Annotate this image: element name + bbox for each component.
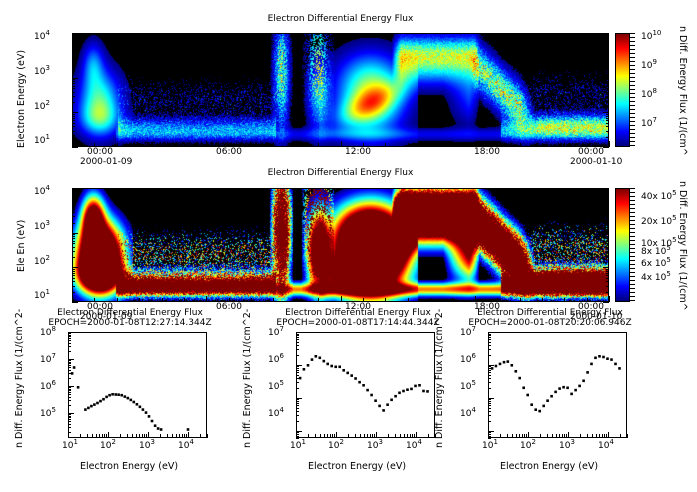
spectrum-3-xtick-4: 104 bbox=[598, 441, 614, 451]
axis-tick bbox=[296, 366, 299, 367]
data-point bbox=[574, 389, 577, 392]
data-point bbox=[326, 363, 329, 366]
colorbar-tick bbox=[629, 232, 635, 233]
axis-tick bbox=[592, 434, 593, 438]
axis-tick bbox=[296, 415, 299, 416]
spectrum-1-xtick-3: 103 bbox=[139, 441, 155, 451]
axis-tick bbox=[324, 434, 325, 438]
axis-tick bbox=[606, 57, 609, 58]
axis-tick bbox=[72, 114, 75, 115]
spectrum-3-ytick-5: 105 bbox=[460, 382, 476, 392]
axis-tick bbox=[186, 434, 187, 438]
spectrum-2-xtick-4: 104 bbox=[406, 441, 422, 451]
colorbar-tick bbox=[629, 41, 635, 42]
axis-tick bbox=[229, 143, 230, 147]
data-point bbox=[534, 408, 537, 411]
axis-tick bbox=[68, 343, 71, 344]
axis-tick bbox=[72, 275, 75, 276]
axis-tick bbox=[68, 332, 74, 333]
axis-tick bbox=[72, 54, 75, 55]
mid-spectrogram-ylabel: Ele En (eV) bbox=[16, 220, 27, 272]
spectrum-1-xtick-4: 104 bbox=[178, 441, 194, 451]
axis-tick bbox=[488, 432, 489, 438]
axis-tick bbox=[606, 278, 609, 279]
axis-tick bbox=[144, 434, 145, 438]
axis-tick bbox=[72, 81, 75, 82]
axis-tick bbox=[606, 271, 609, 272]
data-point bbox=[303, 368, 306, 371]
colorbar-tick bbox=[629, 137, 635, 138]
axis-tick bbox=[606, 114, 609, 115]
colorbar-tick bbox=[629, 73, 635, 74]
axis-tick bbox=[488, 398, 494, 399]
data-point bbox=[503, 361, 506, 364]
top-spectrogram-title: Electron Differential Energy Flux bbox=[73, 14, 608, 24]
data-point bbox=[315, 355, 318, 358]
top-ytick-4: 104 bbox=[34, 32, 50, 42]
data-point bbox=[148, 415, 151, 418]
data-point bbox=[307, 364, 310, 367]
data-point bbox=[374, 399, 377, 402]
data-point bbox=[319, 357, 322, 360]
spectrum-1-title: Electron Differential Energy Flux bbox=[35, 308, 225, 318]
axis-tick bbox=[332, 434, 333, 438]
axis-tick bbox=[606, 202, 609, 203]
data-point bbox=[586, 371, 589, 374]
axis-tick bbox=[488, 438, 491, 439]
axis-tick bbox=[603, 112, 609, 113]
axis-tick bbox=[606, 434, 607, 438]
axis-tick bbox=[376, 432, 377, 438]
colorbar-tick bbox=[629, 264, 635, 265]
axis-tick bbox=[606, 281, 609, 282]
axis-tick bbox=[72, 61, 75, 62]
data-point bbox=[546, 399, 549, 402]
colorbar-tick bbox=[629, 61, 635, 62]
axis-tick bbox=[327, 434, 328, 438]
spectrum-1-ytick-6: 106 bbox=[40, 382, 56, 392]
data-point bbox=[422, 390, 425, 393]
colorbar-tick bbox=[629, 113, 635, 114]
top-cbar-tick-10: 1010 bbox=[641, 32, 661, 42]
axis-tick bbox=[606, 243, 609, 244]
axis-tick bbox=[117, 298, 118, 302]
axis-tick bbox=[296, 349, 299, 350]
axis-tick bbox=[296, 368, 299, 369]
axis-tick bbox=[603, 302, 609, 303]
axis-tick bbox=[72, 292, 75, 293]
spectrum-2-ytick-5: 105 bbox=[268, 382, 284, 392]
top-xdate-right: 2000-01-10 bbox=[570, 157, 622, 167]
colorbar-tick bbox=[629, 276, 635, 277]
axis-tick bbox=[68, 367, 71, 368]
data-point bbox=[370, 394, 373, 397]
axis-tick bbox=[606, 88, 609, 89]
axis-tick bbox=[522, 434, 523, 438]
colorbar-tick bbox=[629, 256, 635, 257]
data-point bbox=[117, 393, 120, 396]
axis-tick bbox=[68, 373, 71, 374]
axis-tick bbox=[96, 434, 97, 438]
axis-tick bbox=[564, 143, 565, 147]
data-point bbox=[386, 403, 389, 406]
data-point bbox=[566, 387, 569, 390]
axis-tick bbox=[606, 45, 609, 46]
data-point bbox=[130, 399, 133, 402]
axis-tick bbox=[475, 296, 476, 302]
axis-tick bbox=[363, 298, 364, 302]
axis-tick bbox=[488, 342, 491, 343]
colorbar-tick bbox=[629, 121, 635, 122]
axis-tick bbox=[68, 413, 74, 414]
axis-tick bbox=[139, 298, 140, 302]
spectrum-2-ytick-6: 106 bbox=[268, 355, 284, 365]
axis-tick bbox=[102, 434, 103, 438]
data-point bbox=[187, 428, 190, 431]
axis-tick bbox=[296, 334, 299, 335]
axis-tick bbox=[99, 434, 100, 438]
axis-tick bbox=[488, 339, 491, 340]
data-point bbox=[108, 394, 111, 397]
axis-tick bbox=[385, 298, 386, 302]
data-point bbox=[550, 395, 553, 398]
mid-spectrogram-title: Electron Differential Energy Flux bbox=[73, 168, 608, 178]
axis-tick bbox=[72, 43, 78, 44]
data-point bbox=[570, 393, 573, 396]
data-point bbox=[414, 385, 417, 388]
colorbar-tick bbox=[629, 244, 635, 245]
axis-tick bbox=[296, 332, 302, 333]
axis-tick bbox=[488, 421, 491, 422]
axis-tick bbox=[72, 137, 75, 138]
axis-tick bbox=[606, 54, 609, 55]
axis-tick bbox=[606, 49, 609, 50]
spectrum-3-xtick-3: 103 bbox=[559, 441, 575, 451]
top-colorbar-label: n Diff. Energy Flux (1/(cm^ bbox=[677, 26, 688, 156]
axis-tick bbox=[408, 143, 409, 147]
axis-tick bbox=[430, 298, 431, 302]
axis-tick bbox=[72, 49, 75, 50]
colorbar-tick bbox=[629, 85, 635, 86]
data-point bbox=[606, 357, 609, 360]
axis-tick bbox=[488, 334, 491, 335]
axis-tick bbox=[72, 96, 75, 97]
axis-tick bbox=[72, 126, 75, 127]
axis-tick bbox=[72, 243, 75, 244]
axis-tick bbox=[108, 432, 109, 438]
data-point bbox=[542, 405, 545, 408]
axis-tick bbox=[606, 47, 609, 48]
axis-tick bbox=[606, 92, 609, 93]
mid-cbar-tick-40: 40x 105 bbox=[641, 192, 677, 202]
axis-tick bbox=[206, 141, 207, 147]
axis-tick bbox=[72, 206, 75, 207]
axis-tick bbox=[92, 434, 93, 438]
colorbar-tick bbox=[629, 53, 635, 54]
axis-tick bbox=[606, 247, 609, 248]
data-point bbox=[73, 366, 76, 369]
axis-tick bbox=[606, 61, 609, 62]
axis-tick bbox=[556, 434, 557, 438]
axis-tick bbox=[336, 432, 337, 438]
data-point bbox=[71, 372, 74, 375]
axis-tick bbox=[68, 421, 71, 422]
spectrum-2-ytick-4: 104 bbox=[268, 409, 284, 419]
colorbar-tick bbox=[629, 49, 635, 50]
axis-tick bbox=[488, 411, 491, 412]
colorbar-tick bbox=[629, 212, 635, 213]
axis-tick bbox=[606, 269, 609, 270]
axis-tick bbox=[72, 88, 75, 89]
spectrum-3-ylabel: n Diff. Energy Flux (1/(cm^2- bbox=[434, 309, 445, 448]
axis-tick bbox=[606, 257, 609, 258]
axis-tick bbox=[606, 96, 609, 97]
top-xtick-3: 18:00 bbox=[474, 147, 500, 157]
axis-tick bbox=[564, 434, 565, 438]
axis-tick bbox=[606, 204, 609, 205]
axis-tick bbox=[606, 131, 609, 132]
axis-tick bbox=[488, 382, 491, 383]
axis-tick bbox=[296, 372, 299, 373]
colorbar-tick bbox=[629, 236, 635, 237]
axis-tick bbox=[296, 345, 299, 346]
mid-cbar-tick-20: 20x 105 bbox=[641, 217, 677, 227]
top-ytick-2: 102 bbox=[34, 102, 50, 112]
axis-tick bbox=[72, 267, 78, 268]
axis-tick bbox=[273, 298, 274, 302]
axis-tick bbox=[488, 365, 494, 366]
axis-tick bbox=[516, 434, 517, 438]
data-point bbox=[154, 424, 157, 427]
axis-tick bbox=[500, 434, 501, 438]
axis-tick bbox=[68, 386, 74, 387]
axis-tick bbox=[68, 346, 71, 347]
axis-tick bbox=[296, 408, 299, 409]
axis-tick bbox=[167, 434, 168, 438]
axis-tick bbox=[72, 147, 78, 148]
axis-tick bbox=[606, 216, 609, 217]
axis-tick bbox=[562, 434, 563, 438]
data-point bbox=[582, 380, 585, 383]
axis-tick bbox=[72, 83, 75, 84]
data-point bbox=[406, 388, 409, 391]
axis-tick bbox=[363, 143, 364, 147]
axis-tick bbox=[142, 434, 143, 438]
axis-tick bbox=[341, 296, 342, 302]
axis-tick bbox=[72, 92, 75, 93]
data-point bbox=[594, 357, 597, 360]
data-point bbox=[151, 420, 154, 423]
axis-tick bbox=[229, 298, 230, 302]
colorbar-tick bbox=[629, 292, 635, 293]
axis-tick bbox=[132, 434, 133, 438]
axis-tick bbox=[488, 375, 491, 376]
axis-tick bbox=[72, 212, 75, 213]
axis-tick bbox=[348, 434, 349, 438]
axis-tick bbox=[68, 400, 71, 401]
axis-tick bbox=[68, 351, 71, 352]
data-point bbox=[530, 403, 533, 406]
colorbar-tick bbox=[629, 224, 635, 225]
top-xtick-2: 12:00 bbox=[345, 147, 371, 157]
data-point bbox=[338, 366, 341, 369]
axis-tick bbox=[296, 355, 299, 356]
axis-tick bbox=[606, 206, 609, 207]
data-point bbox=[99, 400, 102, 403]
spectrum-2-title: Electron Differential Energy Flux bbox=[263, 308, 453, 318]
colorbar-tick bbox=[629, 125, 635, 126]
data-point bbox=[311, 358, 314, 361]
axis-tick bbox=[330, 434, 331, 438]
top-cbar-tick-9: 109 bbox=[641, 61, 657, 71]
data-point bbox=[554, 391, 557, 394]
axis-tick bbox=[68, 419, 71, 420]
axis-tick bbox=[606, 292, 609, 293]
axis-tick bbox=[162, 143, 163, 147]
colorbar-tick bbox=[629, 77, 635, 78]
axis-tick bbox=[320, 434, 321, 438]
spectrum-1-ytick-7: 107 bbox=[40, 355, 56, 365]
mid-cbar-tick-4: 4x 105 bbox=[641, 273, 671, 283]
colorbar-tick bbox=[629, 101, 635, 102]
axis-tick bbox=[72, 257, 75, 258]
axis-tick bbox=[72, 204, 75, 205]
axis-tick bbox=[488, 366, 491, 367]
axis-tick bbox=[412, 434, 413, 438]
axis-tick bbox=[374, 434, 375, 438]
data-point bbox=[398, 392, 401, 395]
top-cbar-tick-7: 107 bbox=[641, 119, 657, 129]
axis-tick bbox=[488, 337, 491, 338]
axis-tick bbox=[488, 401, 491, 402]
colorbar-tick bbox=[629, 240, 635, 241]
mid-ytick-3: 103 bbox=[34, 222, 50, 232]
spectrum-1-ylabel: n Diff. Energy Flux (1/(cm^2- bbox=[14, 309, 25, 448]
axis-tick bbox=[524, 434, 525, 438]
data-point bbox=[558, 387, 561, 390]
axis-tick bbox=[72, 200, 75, 201]
colorbar-tick bbox=[629, 248, 635, 249]
axis-tick bbox=[512, 434, 513, 438]
axis-tick bbox=[606, 86, 609, 87]
mid-spectrogram-image bbox=[72, 188, 609, 302]
spectrum-1-xtick-2: 102 bbox=[100, 441, 116, 451]
axis-tick bbox=[488, 345, 491, 346]
axis-tick bbox=[68, 378, 71, 379]
axis-tick bbox=[72, 47, 75, 48]
axis-tick bbox=[68, 336, 71, 337]
axis-tick bbox=[106, 434, 107, 438]
axis-tick bbox=[296, 298, 297, 302]
axis-tick bbox=[606, 273, 609, 274]
axis-tick bbox=[296, 405, 299, 406]
data-point bbox=[491, 367, 494, 370]
axis-tick bbox=[72, 79, 75, 80]
top-xtick-1: 06:00 bbox=[216, 147, 242, 157]
axis-tick bbox=[542, 298, 543, 302]
data-point bbox=[124, 395, 127, 398]
data-point bbox=[618, 367, 621, 370]
data-point bbox=[346, 372, 349, 375]
axis-tick bbox=[488, 355, 491, 356]
axis-tick bbox=[475, 141, 476, 147]
axis-tick bbox=[488, 408, 491, 409]
axis-tick bbox=[372, 434, 373, 438]
top-spectrogram-image bbox=[72, 33, 609, 147]
axis-tick bbox=[296, 398, 302, 399]
axis-tick bbox=[606, 238, 609, 239]
axis-tick bbox=[80, 434, 81, 438]
axis-tick bbox=[72, 236, 75, 237]
axis-tick bbox=[400, 434, 401, 438]
axis-tick bbox=[606, 83, 609, 84]
axis-tick bbox=[542, 143, 543, 147]
data-point bbox=[538, 410, 541, 413]
axis-tick bbox=[68, 416, 71, 417]
axis-tick bbox=[68, 397, 71, 398]
colorbar-tick bbox=[629, 129, 635, 130]
data-point bbox=[526, 394, 529, 397]
axis-tick bbox=[188, 432, 189, 438]
axis-tick bbox=[603, 198, 609, 199]
data-point bbox=[598, 355, 601, 358]
axis-tick bbox=[488, 405, 491, 406]
spectrum-1-xlabel: Electron Energy (eV) bbox=[80, 461, 178, 472]
data-point bbox=[499, 363, 502, 366]
axis-tick bbox=[68, 359, 74, 360]
axis-tick bbox=[72, 223, 75, 224]
axis-tick bbox=[104, 434, 105, 438]
axis-tick bbox=[72, 247, 75, 248]
axis-tick bbox=[68, 362, 71, 363]
axis-tick bbox=[72, 68, 75, 69]
axis-tick bbox=[606, 275, 609, 276]
axis-tick bbox=[452, 143, 453, 147]
axis-tick bbox=[172, 434, 173, 438]
axis-tick bbox=[179, 434, 180, 438]
axis-tick bbox=[580, 434, 581, 438]
data-point bbox=[77, 386, 80, 389]
data-point bbox=[515, 370, 518, 373]
axis-tick bbox=[68, 387, 71, 388]
axis-tick bbox=[296, 335, 299, 336]
spectrum-3-subtitle: EPOCH=2000-01-08T20:20:06.946Z bbox=[445, 318, 655, 328]
spectrum-2-ylabel: n Diff. Energy Flux (1/(cm^2- bbox=[242, 309, 253, 448]
colorbar-tick bbox=[629, 252, 635, 253]
axis-tick bbox=[72, 198, 78, 199]
data-point bbox=[120, 394, 123, 397]
colorbar-tick bbox=[629, 268, 635, 269]
axis-tick bbox=[127, 434, 128, 438]
axis-tick bbox=[587, 298, 588, 302]
spectrum-3-ytick-4: 104 bbox=[460, 409, 476, 419]
data-point bbox=[93, 403, 96, 406]
colorbar-tick bbox=[629, 69, 635, 70]
spectrum-2-xtick-2: 102 bbox=[328, 441, 344, 451]
axis-tick bbox=[146, 434, 147, 438]
colorbar-tick bbox=[629, 296, 635, 297]
axis-tick bbox=[609, 296, 610, 302]
axis-tick bbox=[72, 271, 75, 272]
spectrum-2-xtick-3: 103 bbox=[367, 441, 383, 451]
data-point bbox=[366, 389, 369, 392]
top-xtick-0: 00:00 bbox=[87, 147, 113, 157]
axis-tick bbox=[606, 118, 609, 119]
axis-tick bbox=[602, 434, 603, 438]
axis-tick bbox=[488, 372, 491, 373]
colorbar-tick bbox=[629, 97, 635, 98]
spectrum-1-subtitle: EPOCH=2000-01-08T12:27:14.344Z bbox=[25, 318, 235, 328]
